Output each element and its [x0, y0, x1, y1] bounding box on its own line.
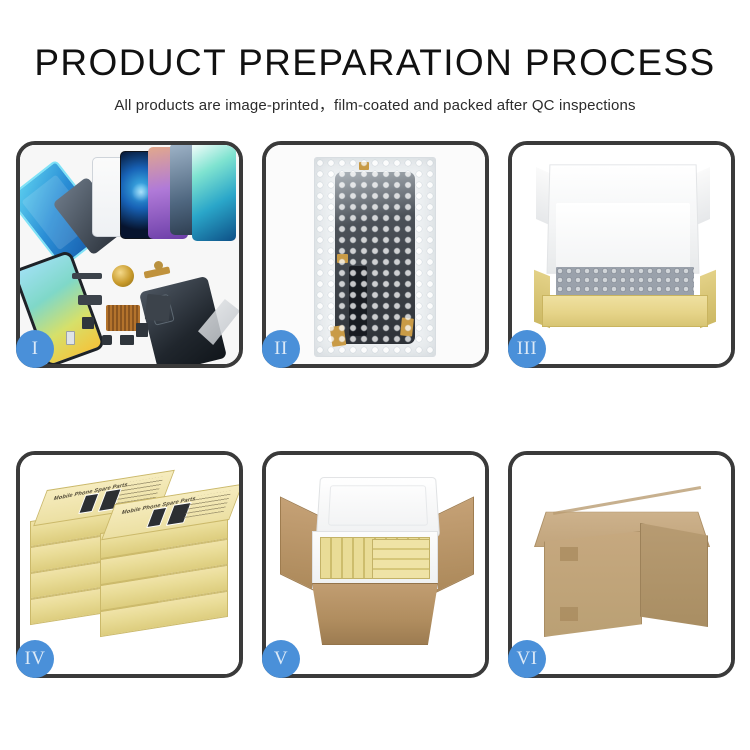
gold-contact-4: [359, 162, 369, 170]
process-step-panel-1: I: [16, 141, 243, 368]
yellow-boxes-row-2: [372, 539, 430, 579]
gold-contact-3: [400, 317, 414, 336]
process-step-panel-2: II: [262, 141, 489, 368]
teal-gradient-phone: [192, 145, 236, 241]
header: PRODUCT PREPARATION PROCESS All products…: [0, 0, 750, 115]
step-badge-1: I: [16, 330, 54, 368]
screw-part: [154, 261, 163, 270]
foam-sheet: [556, 203, 690, 275]
carton-tape-patch-bottom: [560, 607, 578, 621]
carton-side-face: [640, 523, 708, 627]
box-spec-lines-1: [184, 491, 232, 519]
step-4-image: Mobile Phone Spare Parts Mobile Phone Sp…: [20, 455, 239, 674]
flex-cable-2: [78, 295, 102, 305]
step-badge-5: V: [262, 640, 300, 678]
logic-board-chip: [106, 305, 140, 331]
carton-front-face: [544, 531, 642, 637]
gold-contact-2: [330, 325, 347, 347]
step-badge-2: II: [262, 330, 300, 368]
carton-tape-patch-top: [560, 547, 578, 561]
page-title: PRODUCT PREPARATION PROCESS: [0, 44, 750, 81]
step-6-image: [512, 455, 731, 674]
page-subtitle: All products are image-printed，film-coat…: [0, 94, 750, 115]
step-3-image: [512, 145, 731, 364]
step-1-image: [20, 145, 239, 364]
small-part-2: [102, 335, 112, 345]
process-step-panel-5: V: [262, 451, 489, 678]
step-5-image: [266, 455, 485, 674]
flex-cable-3: [145, 294, 172, 322]
product-preparation-infographic: PRODUCT PREPARATION PROCESS All products…: [0, 0, 750, 750]
step-badge-3: III: [508, 330, 546, 368]
speaker-component: [112, 265, 134, 287]
box-stack: Mobile Phone Spare Parts Mobile Phone Sp…: [26, 477, 236, 657]
gold-contact-1: [337, 254, 348, 263]
process-step-panel-4: Mobile Phone Spare Parts Mobile Phone Sp…: [16, 451, 243, 678]
foam-lid: [316, 477, 440, 537]
process-step-grid: I II: [16, 141, 735, 678]
small-part-1: [82, 317, 94, 329]
process-step-panel-6: VI: [508, 451, 735, 678]
flex-cable-1: [72, 273, 102, 279]
step-2-image: [266, 145, 485, 364]
process-step-panel-3: III: [508, 141, 735, 368]
small-part-4: [136, 323, 148, 337]
bubble-wrap-bag: [314, 157, 436, 357]
small-part-3: [120, 335, 134, 345]
carton-front-panel: [312, 583, 438, 645]
step-badge-6: VI: [508, 640, 546, 678]
step-badge-4: IV: [16, 640, 54, 678]
small-part-5: [66, 331, 75, 345]
yellow-box-front: [542, 295, 708, 327]
lcd-flex-tail: [349, 266, 367, 336]
